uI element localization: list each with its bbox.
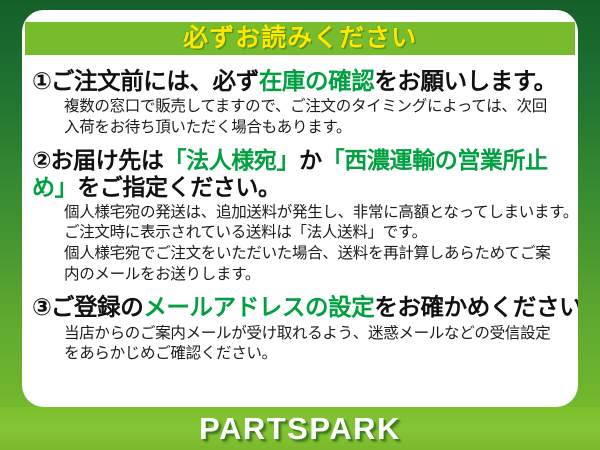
notice-item-1-number: ①	[32, 68, 51, 94]
notice-item-3-heading-part-1: ご登録の	[51, 294, 143, 320]
notice-panel: 必ずお読みください ①ご注文前には、必ず在庫の確認をお願いします。複数の窓口で販…	[22, 10, 578, 407]
notice-item-3-body-line-2: をあらかじめご確認ください。	[64, 344, 568, 365]
notice-item-2-body: 個人様宅宛の発送は、追加送料が発生し、非常に高額となってしまいます。ご注文時に表…	[22, 203, 578, 285]
notice-item-3-heading-part-2: メールアドレスの設定	[143, 294, 374, 320]
notice-item-2-body-line-3: 個人様宅宛でご注文をいただいた場合、送料を再計算しあらためてご案	[64, 244, 568, 265]
notice-item-3: ③ご登録のメールアドレスの設定をお確かめください。当店からのご案内メールが受け取…	[22, 294, 578, 364]
notice-item-1-heading-part-3: をお願いします。	[374, 68, 556, 94]
notice-item-3-heading: ③ご登録のメールアドレスの設定をお確かめください。	[22, 294, 578, 321]
notice-banner: 必ずお読みください ①ご注文前には、必ず在庫の確認をお願いします。複数の窓口で販…	[0, 0, 600, 450]
notice-item-1-body-line-2: 入荷をお待ち頂いただく場合もあります。	[64, 118, 568, 139]
notice-item-2-heading-part-1: お届け先は	[50, 147, 163, 173]
notice-item-2-heading-part-2: 「法人様宛」	[164, 147, 300, 173]
brand-footer: PARTSPARK	[0, 407, 600, 450]
notice-item-3-number: ③	[32, 294, 51, 320]
partspark-logo: PARTSPARK	[199, 413, 401, 444]
notice-item-2-body-line-1: 個人様宅宛の発送は、追加送料が発生し、非常に高額となってしまいます。	[64, 203, 568, 224]
notice-item-2-number: ②	[32, 147, 50, 173]
notice-item-1-heading-part-1: ご注文前には、必ず	[51, 68, 259, 94]
notice-header-bar: 必ずお読みください	[25, 22, 575, 55]
notice-item-3-heading-part-3: をお確かめください。	[374, 294, 578, 320]
notice-item-1-heading: ①ご注文前には、必ず在庫の確認をお願いします。	[22, 68, 578, 95]
notice-item-2-body-line-4: 内のメールをお送りします。	[64, 265, 568, 286]
notice-item-2-heading-part-3: か	[299, 147, 322, 173]
notice-item-3-body: 当店からのご案内メールが受け取れるよう、迷惑メールなどの受信設定をあらかじめご確…	[22, 324, 578, 365]
notice-item-1-body-line-1: 複数の窓口で販売してますので、ご注文のタイミングによっては、次回	[64, 97, 568, 118]
notice-title: 必ずお読みください	[183, 26, 417, 51]
notice-item-2-body-line-2: ご注文時に表示されている送料は「法人送料」です。	[64, 223, 568, 244]
notice-item-2-heading: ②お届け先は「法人様宛」か「西濃運輸の営業所止め」をご指定ください。	[22, 147, 578, 200]
notice-item-1-heading-part-2: 在庫の確認	[259, 68, 375, 94]
notice-item-2: ②お届け先は「法人様宛」か「西濃運輸の営業所止め」をご指定ください。個人様宅宛の…	[22, 147, 578, 285]
notice-item-1: ①ご注文前には、必ず在庫の確認をお願いします。複数の窓口で販売してますので、ご注…	[22, 68, 578, 138]
notice-item-list: ①ご注文前には、必ず在庫の確認をお願いします。複数の窓口で販売してますので、ご注…	[22, 68, 578, 374]
notice-item-1-body: 複数の窓口で販売してますので、ご注文のタイミングによっては、次回入荷をお待ち頂い…	[22, 97, 578, 138]
notice-item-3-body-line-1: 当店からのご案内メールが受け取れるよう、迷惑メールなどの受信設定	[64, 324, 568, 345]
notice-item-2-heading-part-5: をご指定ください。	[77, 174, 280, 200]
